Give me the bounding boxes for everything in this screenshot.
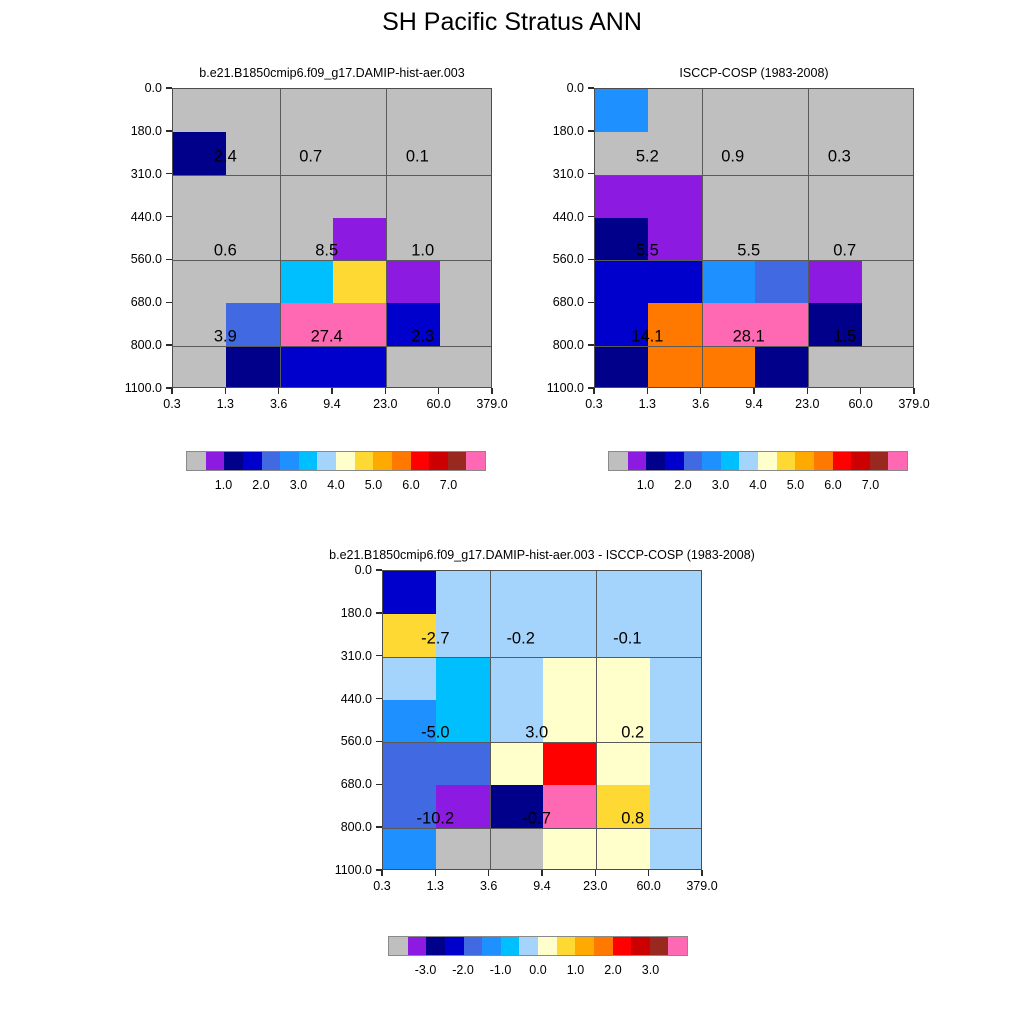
colorbar-swatch-navy (646, 452, 665, 470)
y-axis-label: 800.0 (131, 338, 162, 352)
colorbar-swatch-purple (206, 452, 225, 470)
y-axis-label: 800.0 (553, 338, 584, 352)
colorbar-swatch-deep-sky-blue (501, 937, 520, 955)
heatmap-cell (862, 303, 914, 346)
heatmap-cell (650, 700, 702, 743)
x-axis-label: 23.0 (373, 397, 397, 411)
panel-title-obs: ISCCP-COSP (1983-2008) (679, 66, 828, 80)
colorbar-tick-label: 4.0 (749, 478, 766, 492)
x-axis-tick (648, 870, 649, 876)
heatmap-cell (862, 346, 914, 388)
x-axis-label: 1.3 (217, 397, 234, 411)
gridline-vertical (280, 89, 281, 387)
y-axis-label: 310.0 (341, 649, 372, 663)
colorbar-tick-label: 2.0 (252, 478, 269, 492)
heatmap-cell (440, 303, 492, 346)
colorbar-tick-label: 0.0 (529, 963, 546, 977)
colorbar-swatch-brick-red (448, 452, 467, 470)
colorbar-swatch-dark-orange (594, 937, 613, 955)
cell-value-label: -0.2 (506, 629, 534, 648)
heatmap-cell (490, 742, 544, 785)
colorbar-swatch-pink (668, 937, 687, 955)
cell-value-label: 0.6 (214, 241, 237, 260)
colorbar-swatch-dark-red (429, 452, 448, 470)
colorbar-tick-label: -2.0 (452, 963, 474, 977)
colorbar-tick-label: 6.0 (402, 478, 419, 492)
heatmap-cell (702, 346, 756, 388)
cell-value-label: 27.4 (311, 327, 343, 346)
x-axis-label: 9.4 (533, 879, 550, 893)
heatmap-cell (543, 657, 597, 700)
heatmap-cell (543, 742, 597, 785)
heatmap-cell (862, 175, 914, 218)
heatmap-cell (543, 785, 597, 828)
colorbar-tick-label: 3.0 (712, 478, 729, 492)
panel-model: b.e21.B1850cmip6.f09_g17.DAMIP-hist-aer.… (172, 88, 492, 388)
y-axis-label: 680.0 (341, 777, 372, 791)
colorbar-tick-label: 1.0 (567, 963, 584, 977)
heatmap-cell (173, 89, 227, 132)
heatmap-cell (280, 175, 334, 218)
x-axis-tick (701, 870, 702, 876)
colorbar-swatch-light-blue (739, 452, 758, 470)
heatmap-cell (333, 260, 387, 303)
heatmap-cell (280, 260, 334, 303)
heatmap-cell (436, 828, 490, 870)
x-axis-label: 1.3 (639, 397, 656, 411)
heatmap-cell (862, 218, 914, 261)
heatmap-cell (226, 89, 280, 132)
colorbar-difference: -3.0-2.0-1.00.01.02.03.0 (388, 936, 688, 982)
colorbar-tick-label: 3.0 (290, 478, 307, 492)
y-axis-tick (588, 344, 594, 345)
colorbar-swatch-light-yellow (336, 452, 355, 470)
heatmap-cell (436, 742, 490, 785)
x-axis-tick (278, 388, 279, 394)
colorbar-swatch-medium-blue (445, 937, 464, 955)
heatmap-cell (440, 175, 492, 218)
colorbar-swatch-dodger-blue (702, 452, 721, 470)
x-axis-label: 60.0 (426, 397, 450, 411)
y-axis-tick (376, 784, 382, 785)
y-axis-label: 560.0 (341, 734, 372, 748)
x-axis-label: 0.3 (163, 397, 180, 411)
gridline-horizontal (173, 175, 491, 176)
x-axis-tick (331, 388, 332, 394)
colorbar-tick-label: 2.0 (604, 963, 621, 977)
cell-value-label: 5.2 (636, 147, 659, 166)
x-axis-tick (647, 388, 648, 394)
colorbar-swatch-purple (408, 937, 427, 955)
colorbar-tick-label: 7.0 (862, 478, 879, 492)
y-axis-label: 800.0 (341, 820, 372, 834)
y-axis-tick (588, 87, 594, 88)
y-axis-label: 310.0 (553, 167, 584, 181)
heatmap-cell (490, 571, 544, 614)
gridline-vertical (490, 571, 491, 869)
gridline-horizontal (383, 828, 701, 829)
cell-value-label: 0.8 (621, 809, 644, 828)
gridline-vertical (702, 89, 703, 387)
x-axis-tick (860, 388, 861, 394)
heatmap-cell (755, 132, 809, 175)
gridline-horizontal (383, 742, 701, 743)
heatmap-cell (650, 828, 702, 870)
heatmap-cell (648, 346, 702, 388)
colorbar-swatch-royal-blue (262, 452, 281, 470)
heatmap-cell (436, 657, 490, 700)
x-axis-tick (435, 870, 436, 876)
x-axis-tick (491, 388, 492, 394)
heatmap-cell (543, 571, 597, 614)
heatmap-cell (755, 218, 809, 261)
gridline-vertical (596, 571, 597, 869)
colorbar-swatch-deep-sky-blue (721, 452, 740, 470)
colorbar-tick-label: 7.0 (440, 478, 457, 492)
heatmap-cell (808, 175, 862, 218)
gridline-vertical (808, 89, 809, 387)
x-axis-tick (385, 388, 386, 394)
y-axis-label: 680.0 (131, 295, 162, 309)
colorbar-swatch-dark-red (631, 937, 650, 955)
colorbar-swatch-medium-blue (665, 452, 684, 470)
y-axis-label: 310.0 (131, 167, 162, 181)
heatmap-cell (543, 700, 597, 743)
cell-value-label: 0.7 (299, 147, 322, 166)
x-axis-tick (171, 388, 172, 394)
cell-value-label: 5.5 (737, 241, 760, 260)
x-axis-tick (700, 388, 701, 394)
colorbar-model: 1.02.03.04.05.06.07.0 (186, 451, 486, 497)
colorbar-swatches (186, 451, 486, 471)
heatmap-cell (650, 785, 702, 828)
colorbar-tick-label: 5.0 (365, 478, 382, 492)
gridline-horizontal (173, 346, 491, 347)
x-axis-tick (753, 388, 754, 394)
colorbar-swatch-navy (426, 937, 445, 955)
y-axis-tick (376, 741, 382, 742)
heatmap-cell (862, 132, 914, 175)
x-axis-label: 23.0 (583, 879, 607, 893)
heatmap-cell (650, 571, 702, 614)
heatmap-cell (755, 89, 809, 132)
cell-value-label: -0.1 (613, 629, 641, 648)
colorbar-swatch-light-yellow (538, 937, 557, 955)
x-axis-label: 3.6 (480, 879, 497, 893)
heatmap-cell (650, 742, 702, 785)
y-axis-label: 680.0 (553, 295, 584, 309)
heatmap-cell (333, 132, 387, 175)
y-axis-label: 180.0 (131, 124, 162, 138)
x-axis-tick (381, 870, 382, 876)
heatmap-cell (648, 89, 702, 132)
cell-value-label: 0.7 (833, 241, 856, 260)
figure-canvas: SH Pacific Stratus ANN b.e21.B1850cmip6.… (0, 0, 1024, 1024)
heatmap-cell (440, 218, 492, 261)
colorbar-swatches (608, 451, 908, 471)
heatmap-cell (440, 260, 492, 303)
heatmap-cell (386, 260, 440, 303)
y-axis-tick (376, 612, 382, 613)
x-axis-tick (225, 388, 226, 394)
cell-value-label: -0.7 (522, 809, 550, 828)
x-axis-label: 379.0 (686, 879, 717, 893)
heatmap-cell (440, 132, 492, 175)
y-axis-tick (166, 344, 172, 345)
y-axis-tick (588, 387, 594, 388)
cell-value-label: 1.0 (411, 241, 434, 260)
heatmap-cell (383, 571, 437, 614)
heatmap-cell (333, 346, 387, 388)
heatmap-cell (386, 175, 440, 218)
y-axis-tick (588, 259, 594, 260)
heatmap-cell (226, 346, 280, 388)
y-axis-label: 0.0 (145, 81, 162, 95)
heatmap-cell (650, 657, 702, 700)
colorbar-swatch-dodger-blue (482, 937, 501, 955)
heatmap-cell (543, 614, 597, 657)
colorbar-swatch-brick-red (650, 937, 669, 955)
y-axis-label: 0.0 (355, 563, 372, 577)
x-axis-label: 379.0 (898, 397, 929, 411)
heatmap-cell (173, 346, 227, 388)
gridline-horizontal (595, 260, 913, 261)
colorbar-swatch-light-yellow (758, 452, 777, 470)
y-axis-label: 440.0 (341, 692, 372, 706)
heatmap-cell (173, 260, 227, 303)
colorbar-swatch-light-blue (317, 452, 336, 470)
heatmap-cell (333, 89, 387, 132)
heatmap-cell (333, 218, 387, 261)
gridline-horizontal (173, 260, 491, 261)
colorbar-swatch-light-blue (519, 937, 538, 955)
cell-value-label: -5.0 (421, 723, 449, 742)
y-axis-tick (166, 173, 172, 174)
y-axis-label: 440.0 (131, 210, 162, 224)
heatmap-cell (595, 89, 649, 132)
colorbar-swatch-dark-orange (392, 452, 411, 470)
x-axis-label: 379.0 (476, 397, 507, 411)
heatmap-cell (650, 614, 702, 657)
heatmap-cell (862, 89, 914, 132)
y-axis-label: 0.0 (567, 81, 584, 95)
heatmap-cell (702, 175, 756, 218)
y-axis-tick (166, 259, 172, 260)
y-axis-tick (166, 130, 172, 131)
cell-value-label: 2.4 (214, 147, 237, 166)
colorbar-swatch-amber (575, 937, 594, 955)
y-axis-tick (588, 216, 594, 217)
x-axis-tick (593, 388, 594, 394)
y-axis-label: 1100.0 (335, 863, 372, 877)
colorbar-swatch-red (833, 452, 852, 470)
colorbar-swatch-gold (557, 937, 576, 955)
x-axis-label: 3.6 (270, 397, 287, 411)
x-axis-label: 1.3 (427, 879, 444, 893)
heatmap-cell (280, 346, 334, 388)
cell-value-label: 5.5 (636, 241, 659, 260)
heatmap-cell (543, 828, 597, 870)
colorbar-swatch-dodger-blue (280, 452, 299, 470)
y-axis-label: 1100.0 (125, 381, 162, 395)
heatmap-cell (595, 346, 649, 388)
heatmap-cell (383, 828, 437, 870)
heatmap-cell (596, 828, 650, 870)
x-axis-tick (807, 388, 808, 394)
y-axis-tick (376, 569, 382, 570)
colorbar-swatch-gray (187, 452, 206, 470)
x-axis-label: 9.4 (323, 397, 340, 411)
x-axis-label: 0.3 (373, 879, 390, 893)
colorbar-tick-label: 2.0 (674, 478, 691, 492)
heatmap-cell (702, 260, 756, 303)
heatmap-cell (383, 657, 437, 700)
cell-value-label: 2.3 (411, 327, 434, 346)
colorbar-swatch-dark-orange (814, 452, 833, 470)
y-axis-label: 1100.0 (547, 381, 584, 395)
y-axis-label: 560.0 (553, 252, 584, 266)
colorbar-swatches (388, 936, 688, 956)
y-axis-label: 560.0 (131, 252, 162, 266)
y-axis-tick (376, 655, 382, 656)
panel-title-model: b.e21.B1850cmip6.f09_g17.DAMIP-hist-aer.… (199, 66, 464, 80)
colorbar-swatch-pink (888, 452, 907, 470)
x-axis-tick (438, 388, 439, 394)
colorbar-swatch-gray (389, 937, 408, 955)
heatmap-cell (755, 346, 809, 388)
colorbar-swatch-gold (355, 452, 374, 470)
colorbar-swatch-gold (777, 452, 796, 470)
heatmap-cell (596, 742, 650, 785)
y-axis-tick (588, 173, 594, 174)
y-axis-tick (588, 302, 594, 303)
cell-value-label: 1.5 (833, 327, 856, 346)
y-axis-tick (376, 826, 382, 827)
colorbar-swatch-pink (466, 452, 485, 470)
x-axis-label: 60.0 (848, 397, 872, 411)
x-axis-label: 60.0 (636, 879, 660, 893)
y-axis-label: 180.0 (553, 124, 584, 138)
heatmap-cell (226, 260, 280, 303)
heatmap-cell (490, 828, 544, 870)
panel-difference: b.e21.B1850cmip6.f09_g17.DAMIP-hist-aer.… (382, 570, 702, 870)
heatmap-cell (383, 742, 437, 785)
colorbar-tick-label: 6.0 (824, 478, 841, 492)
colorbar-swatch-royal-blue (464, 937, 483, 955)
panel-obs: ISCCP-COSP (1983-2008)5.20.90.35.55.50.7… (594, 88, 914, 388)
x-axis-tick (541, 870, 542, 876)
heatmap-cell (280, 89, 334, 132)
colorbar-swatch-gray (609, 452, 628, 470)
heatmap-cell (333, 175, 387, 218)
gridline-horizontal (383, 657, 701, 658)
x-axis-label: 23.0 (795, 397, 819, 411)
heatmap-cell (436, 571, 490, 614)
heatmap-cell (755, 175, 809, 218)
colorbar-swatch-brick-red (870, 452, 889, 470)
y-axis-tick (166, 87, 172, 88)
cell-value-label: 0.3 (828, 147, 851, 166)
y-axis-tick (166, 216, 172, 217)
gridline-horizontal (595, 346, 913, 347)
colorbar-swatch-purple (628, 452, 647, 470)
heatmap-cell (440, 346, 492, 388)
y-axis-tick (376, 698, 382, 699)
cell-value-label: 14.1 (631, 327, 663, 346)
heatmap-cell (595, 260, 649, 303)
cell-value-label: 0.1 (406, 147, 429, 166)
y-axis-tick (166, 387, 172, 388)
x-axis-tick (488, 870, 489, 876)
colorbar-tick-label: 5.0 (787, 478, 804, 492)
heatmap-cell (386, 346, 440, 388)
cell-value-label: -2.7 (421, 629, 449, 648)
gridline-horizontal (595, 175, 913, 176)
heatmap-cell (595, 175, 649, 218)
colorbar-tick-label: 4.0 (327, 478, 344, 492)
heatmap-cell (862, 260, 914, 303)
heatmap-cell (648, 260, 702, 303)
colorbar-tick-label: -1.0 (490, 963, 512, 977)
heatmap-cell (596, 657, 650, 700)
x-axis-label: 9.4 (745, 397, 762, 411)
colorbar-tick-label: 3.0 (642, 963, 659, 977)
cell-value-label: 3.9 (214, 327, 237, 346)
heatmap-cell (596, 571, 650, 614)
heatmap-cell (755, 260, 809, 303)
panel-title-difference: b.e21.B1850cmip6.f09_g17.DAMIP-hist-aer.… (329, 548, 755, 562)
colorbar-swatch-red (411, 452, 430, 470)
y-axis-tick (166, 302, 172, 303)
y-axis-label: 180.0 (341, 606, 372, 620)
heatmap-cell (648, 175, 702, 218)
colorbar-tick-label: -3.0 (415, 963, 437, 977)
colorbar-swatch-amber (373, 452, 392, 470)
y-axis-tick (588, 130, 594, 131)
heatmap-cell (702, 89, 756, 132)
y-axis-label: 440.0 (553, 210, 584, 224)
cell-value-label: 0.2 (621, 723, 644, 742)
heatmap-cell (173, 175, 227, 218)
cell-value-label: -10.2 (417, 809, 455, 828)
heatmap-cell (386, 89, 440, 132)
colorbar-swatch-navy (224, 452, 243, 470)
x-axis-tick (913, 388, 914, 394)
cell-value-label: 8.5 (315, 241, 338, 260)
colorbar-tick-label: 1.0 (215, 478, 232, 492)
cell-value-label: 3.0 (525, 723, 548, 742)
heatmap-cell (808, 89, 862, 132)
heatmap-cell (490, 657, 544, 700)
x-axis-label: 0.3 (585, 397, 602, 411)
colorbar-swatch-amber (795, 452, 814, 470)
y-axis-tick (376, 869, 382, 870)
heatmap-cell (808, 260, 862, 303)
heatmap-cell (808, 346, 862, 388)
colorbar-swatch-red (613, 937, 632, 955)
colorbar-swatch-royal-blue (684, 452, 703, 470)
colorbar-swatch-medium-blue (243, 452, 262, 470)
x-axis-tick (595, 870, 596, 876)
colorbar-obs: 1.02.03.04.05.06.07.0 (608, 451, 908, 497)
cell-value-label: 0.9 (721, 147, 744, 166)
gridline-vertical (386, 89, 387, 387)
x-axis-label: 3.6 (692, 397, 709, 411)
heatmap-cell (440, 89, 492, 132)
figure-title: SH Pacific Stratus ANN (0, 8, 1024, 37)
heatmap-cell (226, 175, 280, 218)
colorbar-swatch-deep-sky-blue (299, 452, 318, 470)
